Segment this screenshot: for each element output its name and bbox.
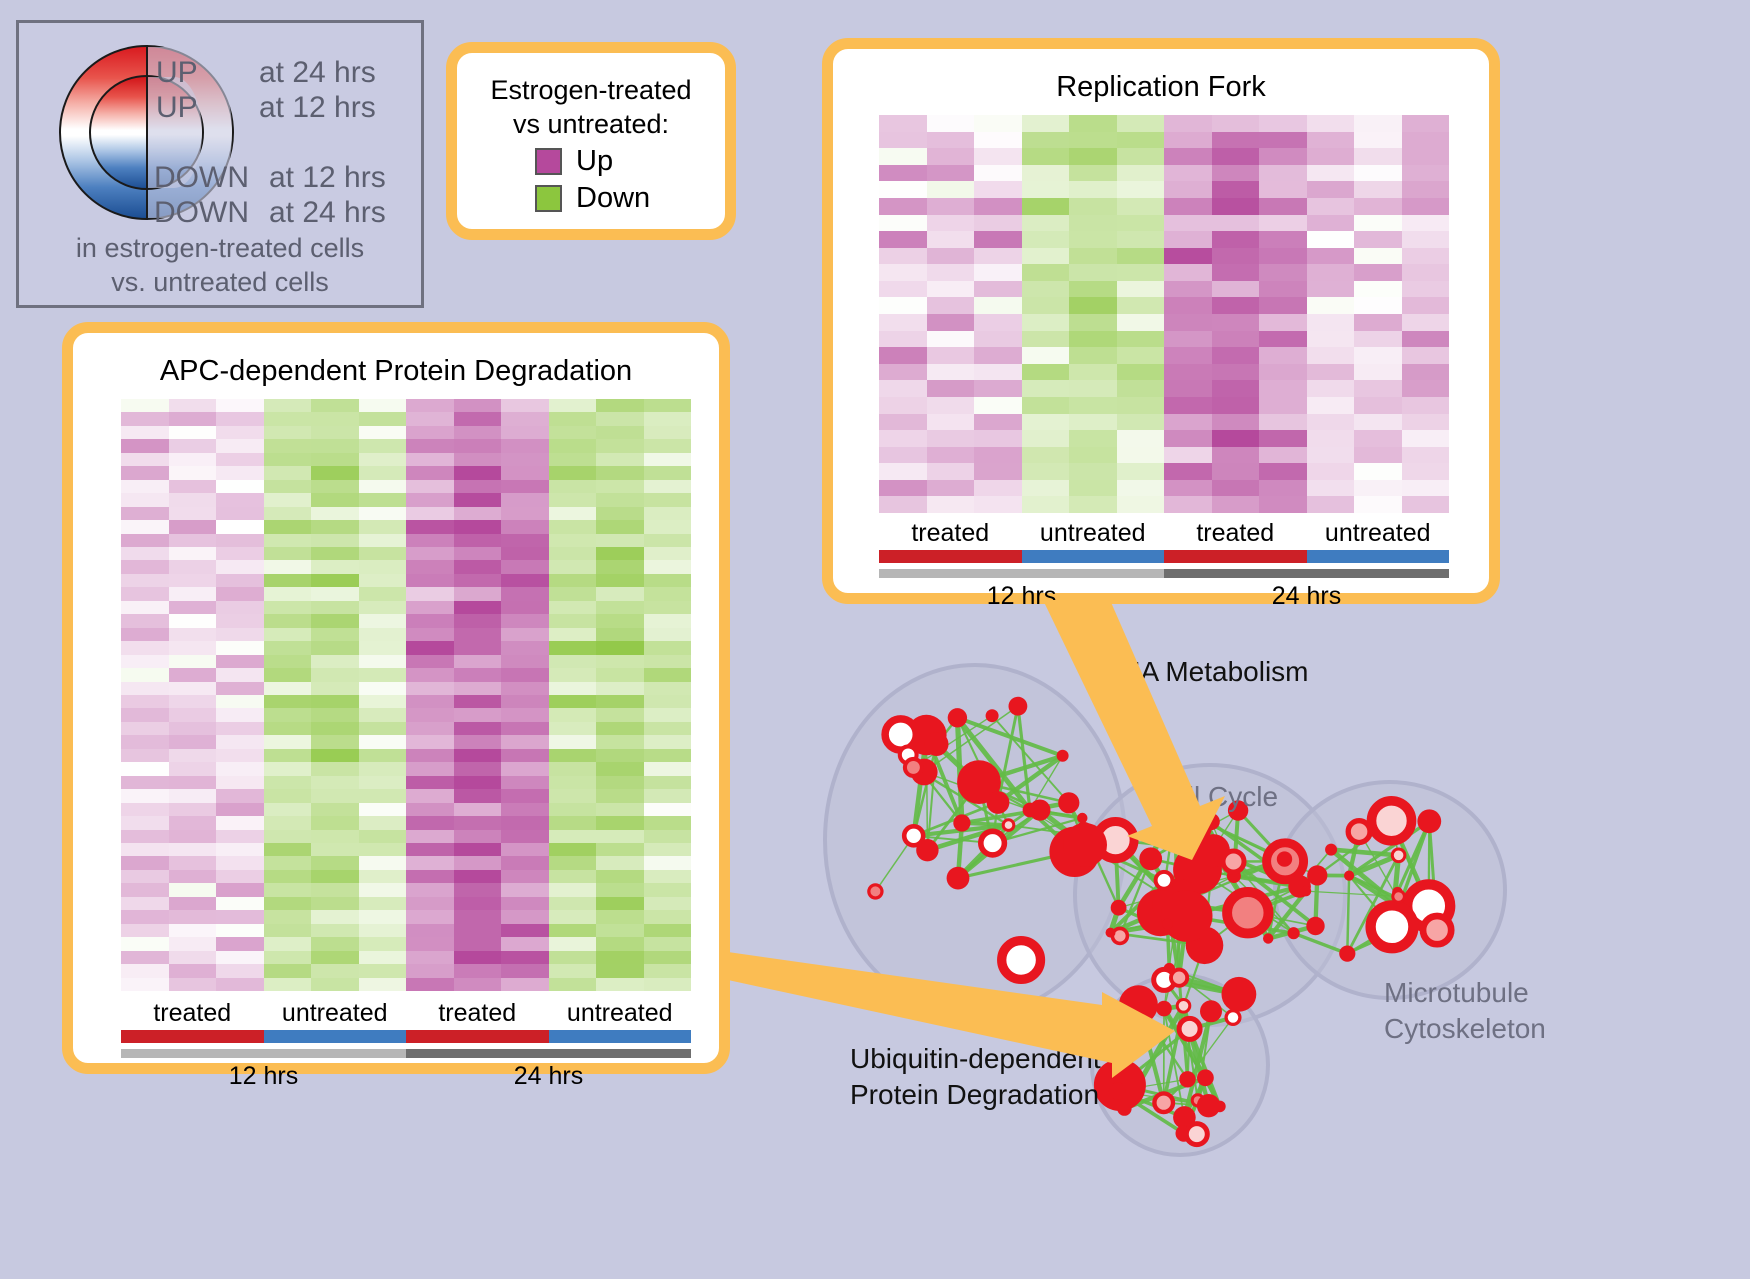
heatmap-cell [359,951,407,964]
network-node[interactable] [1057,750,1069,762]
heatmap-cell [311,614,359,627]
heatmap-cell [1354,248,1402,265]
heatmap-cell [501,453,549,466]
heatmap-cell [454,843,502,856]
heatmap-cell [1164,380,1212,397]
heatmap-cell [359,641,407,654]
heatmap-cell [974,248,1022,265]
network-node[interactable] [1307,865,1327,885]
heatmap-cell [927,496,975,513]
up-down-legend-card: Estrogen-treated vs untreated: Up Down [446,42,736,240]
heatmap-cell [1022,314,1070,331]
heatmap-cell [454,480,502,493]
heatmap-cell [406,964,454,977]
network-node[interactable] [1154,1093,1173,1112]
network-node[interactable] [1226,1011,1240,1025]
network-node[interactable] [1325,844,1337,856]
heatmap-cell [596,762,644,775]
network-node[interactable] [1179,1071,1195,1087]
up-down-legend-title-line2: vs untreated: [457,107,725,141]
network-node[interactable] [1263,933,1273,943]
heatmap-cell [1402,347,1450,364]
network-node[interactable] [1348,821,1370,843]
heatmap-cell [1164,347,1212,364]
network-node[interactable] [981,831,1005,855]
heatmap-cell [1354,414,1402,431]
heatmap-cell [1212,496,1260,513]
heatmap-cell [311,897,359,910]
heatmap-cell [169,870,217,883]
heatmap-cell [121,412,169,425]
network-node[interactable] [1393,891,1405,903]
network-node[interactable] [1009,697,1028,716]
heatmap-cell [1117,198,1165,215]
heatmap-cell [406,762,454,775]
heatmap-cell [1402,414,1450,431]
heatmap-cell [121,883,169,896]
network-node[interactable] [1288,927,1300,939]
heatmap-cell [879,314,927,331]
heatmap-cell [169,924,217,937]
heatmap-cell [596,870,644,883]
heatmap-cell [596,978,644,991]
heatmap-cell [311,964,359,977]
network-node[interactable] [1058,792,1079,813]
heatmap-cell [644,924,692,937]
heatmap-cell [974,165,1022,182]
heatmap-cell [1259,297,1307,314]
heatmap-cell [549,803,597,816]
heatmap-cell [121,843,169,856]
heatmap-cell [216,614,264,627]
heatmap-cell [359,439,407,452]
network-node[interactable] [1339,946,1355,962]
heatmap-cell [454,668,502,681]
heatmap-cell [311,641,359,654]
network-node[interactable] [1109,1082,1126,1099]
heatmap-cell [974,314,1022,331]
heatmap-cell [264,870,312,883]
heatmap-cell [121,749,169,762]
heatmap-cell [549,978,597,991]
heatmap-cell [549,843,597,856]
time-bar [879,569,1164,578]
network-node[interactable] [1301,886,1312,897]
network-node[interactable] [1111,900,1127,916]
heatmap-cell [1354,496,1402,513]
heatmap-cell [1307,397,1355,414]
heatmap-cell [1354,463,1402,480]
network-node[interactable] [1156,1001,1172,1017]
network-node[interactable] [1222,977,1257,1012]
heatmap-cell [216,910,264,923]
heatmap-cell [121,601,169,614]
network-node[interactable] [1197,1069,1214,1086]
network-node[interactable] [1179,1018,1200,1039]
heatmap-cell [1069,463,1117,480]
network-node[interactable] [1417,809,1441,833]
heatmap-cell [644,883,692,896]
heatmap-cell [264,587,312,600]
heatmap-cell [501,776,549,789]
heatmap-cell [406,803,454,816]
network-node[interactable] [1192,812,1209,829]
heatmap-cell [501,722,549,735]
heatmap-cell [879,331,927,348]
heatmap-cell [406,924,454,937]
heatmap-cell [549,587,597,600]
network-node[interactable] [1003,820,1014,831]
heatmap-cell [169,816,217,829]
network-node[interactable] [953,814,970,831]
network-node[interactable] [1177,1000,1190,1013]
heatmap-cell [501,735,549,748]
heatmap-cell [311,722,359,735]
heatmap-cell [1354,480,1402,497]
heatmap-cell [169,480,217,493]
heatmap-cell [596,628,644,641]
heatmap-cell [264,816,312,829]
heatmap-cell [121,816,169,829]
network-node[interactable] [1223,851,1244,872]
network-node[interactable] [1186,1124,1207,1145]
heatmap-cell [1069,264,1117,281]
network-node[interactable] [947,867,970,890]
network-node[interactable] [1063,823,1107,867]
heatmap-cell [1022,430,1070,447]
heatmap-cell [1354,430,1402,447]
network-node[interactable] [1156,872,1173,889]
heatmap-cell [644,870,692,883]
heatmap-cell [1212,281,1260,298]
heatmap-cell [549,668,597,681]
network-node[interactable] [1227,892,1268,933]
heatmap-cell [1212,148,1260,165]
heatmap-cell [1402,281,1450,298]
heatmap-cell [216,399,264,412]
heatmap-cell [264,803,312,816]
heatmap-cell [121,897,169,910]
heatmap-cell [121,547,169,560]
heatmap-cell [1212,380,1260,397]
network-node[interactable] [986,709,999,722]
heatmap-cell [549,964,597,977]
heatmap-cell [1354,364,1402,381]
heatmap-cell [1117,264,1165,281]
heatmap-cell [1402,380,1450,397]
heatmap-cell [879,496,927,513]
heatmap-cell [359,762,407,775]
heatmap-cell [1354,198,1402,215]
heatmap-cell [549,520,597,533]
heatmap-cell [216,883,264,896]
heatmap-cell [974,215,1022,232]
heatmap-cell [1307,198,1355,215]
heatmap-cell [169,695,217,708]
heatmap-cell [359,628,407,641]
heatmap-cell [1069,496,1117,513]
network-node[interactable] [987,791,1010,814]
heatmap-cell [644,587,692,600]
network-node[interactable] [925,732,949,756]
heatmap-cell [927,264,975,281]
heatmap-cell [1069,115,1117,132]
down-swatch-icon [535,185,562,212]
heatmap-cell [1212,181,1260,198]
heatmap-cell [501,708,549,721]
heatmap-cell [359,453,407,466]
network-node[interactable] [1029,800,1050,821]
heatmap-cell [1307,430,1355,447]
network-node[interactable] [1277,851,1292,866]
heatmap-cell [879,414,927,431]
heatmap-cell [974,198,1022,215]
heatmap-cell [974,430,1022,447]
legend-item-down: Down [535,184,650,213]
heatmap-cell [169,655,217,668]
heatmap-cell [974,264,1022,281]
heatmap-cell [121,776,169,789]
heatmap-cell [596,534,644,547]
heatmap-cell [974,380,1022,397]
legend-item-up: Up [535,147,613,176]
heatmap-cell [644,937,692,950]
wheel-time-0: at 24 hrs [259,58,376,88]
heatmap-cell [501,641,549,654]
heatmap-cell [501,466,549,479]
heatmap-cell [1022,463,1070,480]
heatmap-cell [1164,297,1212,314]
heatmap-cell [1117,231,1165,248]
heatmap-cell [264,776,312,789]
heatmap-cell [1069,165,1117,182]
heatmap-cell [169,668,217,681]
heatmap-cell [264,493,312,506]
heatmap-cell [359,749,407,762]
group-label: untreated [549,999,692,1027]
heatmap-cell [1212,215,1260,232]
wheel-time-2: at 12 hrs [269,163,386,193]
heatmap-cell [549,534,597,547]
heatmap-cell [549,453,597,466]
heatmap-cell [501,816,549,829]
heatmap-cell [1022,198,1070,215]
heatmap-cell [359,412,407,425]
wheel-dir-3: DOWN [154,198,249,228]
heatmap-cell [454,628,502,641]
heatmap-cell [311,937,359,950]
heatmap-cell [311,560,359,573]
wheel-dir-0: UP [156,58,198,88]
heatmap-cell [879,215,927,232]
network-node[interactable] [1161,890,1213,942]
heatmap-cell [596,493,644,506]
heatmap-cell [927,132,975,149]
heatmap-cell [1069,447,1117,464]
heatmap-cell [1164,480,1212,497]
heatmap-cell [264,399,312,412]
heatmap-cell [1259,165,1307,182]
heatmap-cell [644,601,692,614]
heatmap-cell [406,776,454,789]
heatmap-cell [1307,181,1355,198]
heatmap-cell [216,978,264,991]
heatmap-cell [1022,231,1070,248]
heatmap-cell [264,547,312,560]
treatment-bar [1164,550,1307,563]
heatmap-cell [1164,397,1212,414]
network-node[interactable] [905,759,922,776]
network-node[interactable] [1200,1000,1222,1022]
heatmap-cell [264,978,312,991]
heatmap-cell [927,281,975,298]
heatmap-cell [311,520,359,533]
heatmap-cell [169,682,217,695]
heatmap-cell [169,749,217,762]
heatmap-cell [1259,281,1307,298]
treatment-bar [879,550,1022,563]
heatmap-cell [1259,132,1307,149]
heatmap-cell [169,735,217,748]
heatmap-cell [311,466,359,479]
heatmap-cell [879,198,927,215]
heatmap-cell [311,762,359,775]
treatment-bar [1022,550,1165,563]
heatmap-cell [1402,132,1450,149]
heatmap-cell [1307,331,1355,348]
heatmap-cell [406,439,454,452]
heatmap-cell [501,520,549,533]
heatmap-cell [879,132,927,149]
heatmap-cell [596,722,644,735]
network-node[interactable] [1392,849,1405,862]
heatmap-cell [406,708,454,721]
heatmap-cell [1117,364,1165,381]
apc-time-labels: 12 hrs24 hrs [121,1061,691,1091]
group-label: untreated [1307,519,1450,547]
heatmap-cell [1069,430,1117,447]
heatmap-cell [1259,414,1307,431]
heatmap-cell [1212,364,1260,381]
heatmap-cell [974,148,1022,165]
heatmap-cell [1307,364,1355,381]
axis-apc: treateduntreatedtreateduntreated 12 hrs2… [121,999,691,1075]
network-node[interactable] [1372,801,1412,841]
heatmap-cell [216,735,264,748]
heatmap-apc [121,399,691,991]
heatmap-cell [596,883,644,896]
heatmap-cell [454,897,502,910]
heatmap-cell [406,843,454,856]
heatmap-cell [644,789,692,802]
heatmap-cell [879,447,927,464]
heatmap-cell [644,978,692,991]
heatmap-cell [169,560,217,573]
heatmap-cell [121,789,169,802]
network-node[interactable] [1344,871,1354,881]
heatmap-cell [169,439,217,452]
heatmap-cell [406,978,454,991]
heatmap-cell [311,735,359,748]
heatmap-cell [1022,248,1070,265]
heatmap-cell [501,682,549,695]
heatmap-cell [644,843,692,856]
heatmap-cell [454,749,502,762]
heatmap-cell [406,897,454,910]
colour-wheel-legend: UP at 24 hrs UP at 12 hrs DOWN at 12 hrs… [16,20,424,308]
heatmap-cell [169,574,217,587]
network-node[interactable] [1171,970,1187,986]
network-node[interactable] [1077,813,1087,823]
heatmap-cell [264,951,312,964]
heatmap-cell [121,520,169,533]
heatmap-cell [264,520,312,533]
network-node[interactable] [869,885,882,898]
network-node[interactable] [1306,917,1324,935]
heatmap-cell [1164,198,1212,215]
heatmap-cell [264,789,312,802]
network-node[interactable] [1106,928,1116,938]
heatmap-cell [311,870,359,883]
heatmap-cell [1402,331,1450,348]
heatmap-cell [549,426,597,439]
group-label: untreated [264,999,407,1027]
network-node[interactable] [1002,941,1041,980]
heatmap-cell [406,695,454,708]
heatmap-cell [501,870,549,883]
network-node[interactable] [1119,985,1158,1024]
heatmap-cell [644,426,692,439]
heatmap-cell [1069,480,1117,497]
heatmap-cell [311,883,359,896]
heatmap-cell [549,870,597,883]
heatmap-cell [454,426,502,439]
network-node[interactable] [1423,916,1451,944]
heatmap-cell [1117,414,1165,431]
network-node[interactable] [1197,1094,1220,1117]
heatmap-cell [596,507,644,520]
heatmap-cell [927,347,975,364]
heatmap-cell [121,507,169,520]
heatmap-cell [406,574,454,587]
heatmap-cell [359,924,407,937]
heatmap-cell [264,924,312,937]
heatmap-cell [1259,496,1307,513]
heatmap-cell [121,628,169,641]
heatmap-cell [1402,215,1450,232]
heatmap-cell [501,843,549,856]
heatmap-cell [169,708,217,721]
heatmap-cell [406,870,454,883]
heatmap-cell [406,507,454,520]
network-node[interactable] [1139,847,1162,870]
heatmap-cell [454,560,502,573]
heatmap-cell [1307,314,1355,331]
heatmap-cell [216,628,264,641]
network-node[interactable] [948,708,967,727]
heatmap-cell [501,964,549,977]
heatmap-cell [359,493,407,506]
heatmap-cell [1212,331,1260,348]
network-node[interactable] [1371,905,1414,948]
heatmap-cell [501,439,549,452]
up-down-legend-title-line1: Estrogen-treated [457,73,725,107]
heatmap-cell [974,364,1022,381]
network-node[interactable] [916,839,938,861]
heatmap-cell [644,830,692,843]
network-node[interactable] [1162,919,1173,930]
wheel-caption-line1: in estrogen-treated cells [19,231,421,265]
